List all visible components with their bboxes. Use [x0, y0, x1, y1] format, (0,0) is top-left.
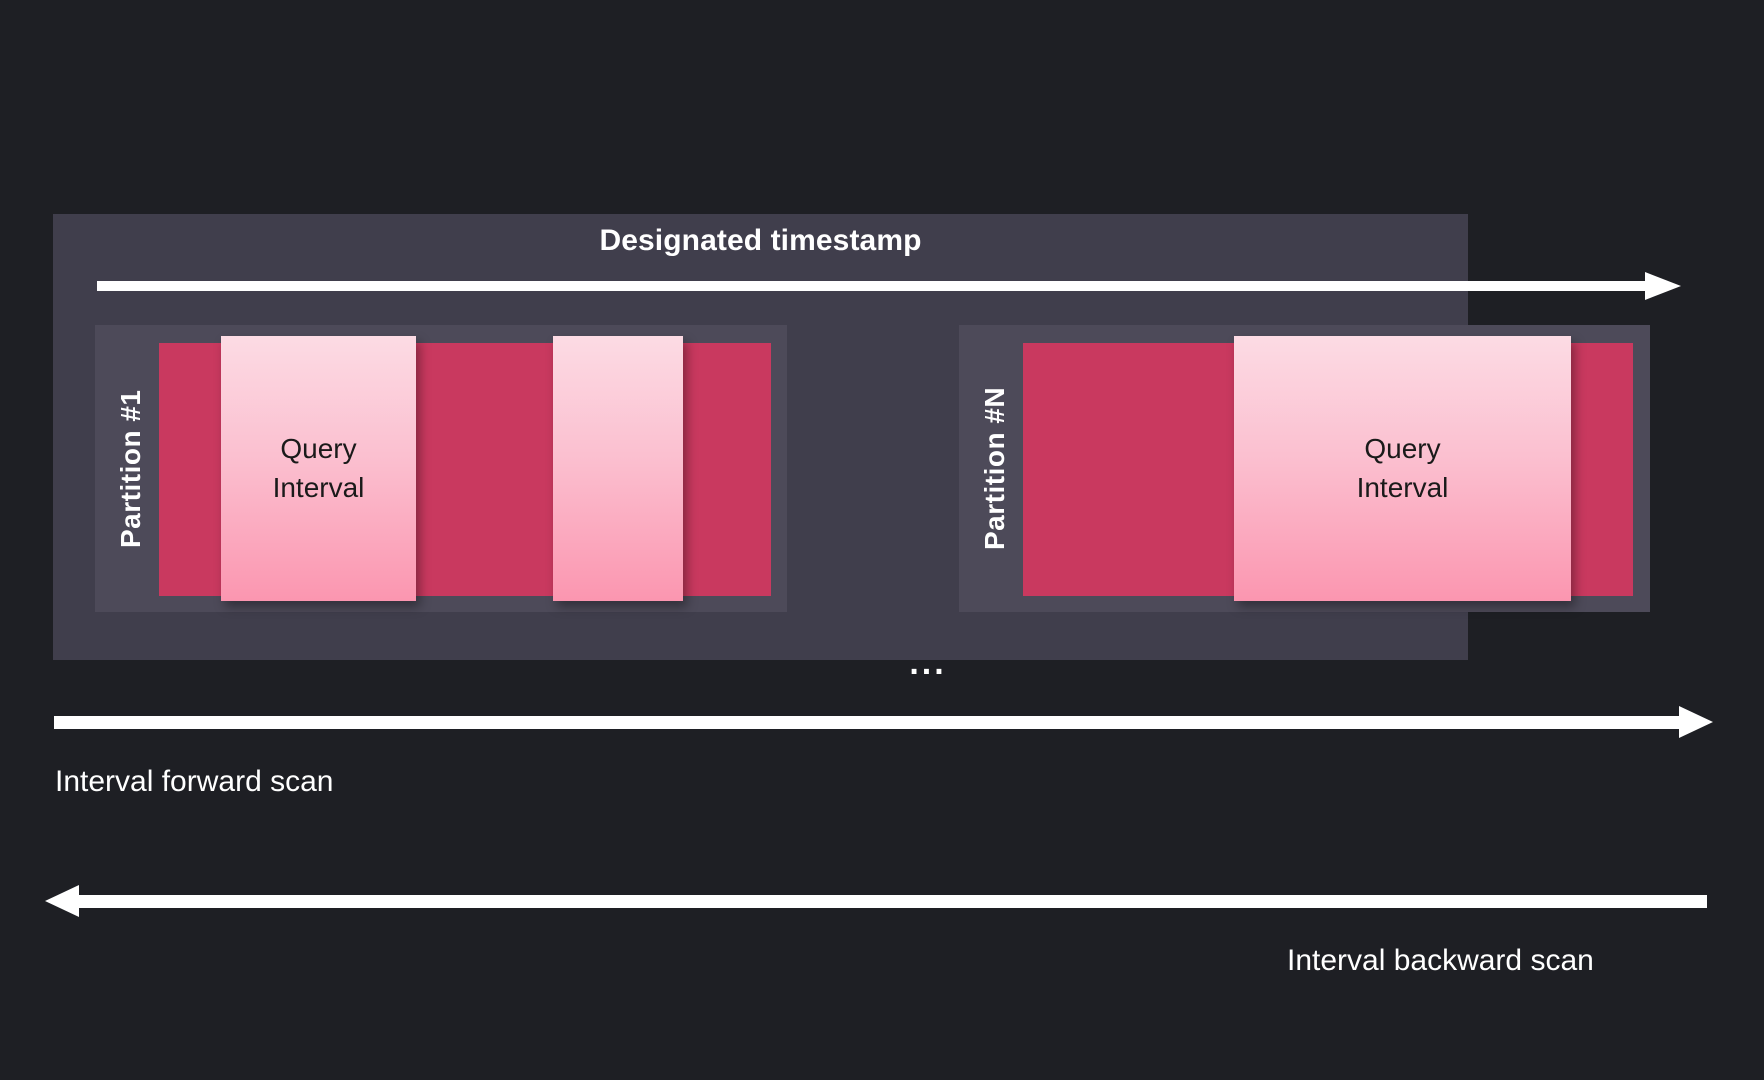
query-interval-line-1: Query: [280, 430, 356, 469]
partitions-ellipsis: ...: [893, 644, 963, 683]
forward-arrow-head: [1679, 706, 1713, 738]
panel-title: Designated timestamp: [53, 224, 1468, 258]
query-interval-line-1: Query: [1364, 430, 1440, 469]
query-interval-line-2: Interval: [1357, 469, 1449, 508]
interval-backward-scan-label: Interval backward scan: [1287, 944, 1594, 978]
designated-timestamp-arrow-icon: [97, 272, 1681, 300]
query-interval-block: Query Interval: [221, 336, 416, 601]
timestamp-arrow-head: [1645, 272, 1681, 300]
interval-backward-scan-arrow-left-icon: [45, 885, 1707, 917]
designated-timestamp-panel: Designated timestamp Partition #1 Query …: [53, 214, 1468, 660]
backward-arrow-head: [45, 885, 79, 917]
partition-n-label: Partition #N: [967, 325, 1023, 612]
interval-forward-scan-arrow-right-icon: [54, 706, 1713, 738]
timestamp-arrow-shaft: [97, 281, 1647, 291]
query-interval-block: Query Interval: [1234, 336, 1571, 601]
partition-1-label: Partition #1: [103, 325, 159, 612]
forward-arrow-shaft: [54, 716, 1684, 729]
partition-n: Partition #N Query Interval: [959, 325, 1650, 612]
query-interval-block: [553, 336, 683, 601]
backward-arrow-shaft: [75, 895, 1707, 908]
interval-forward-scan-label: Interval forward scan: [55, 765, 333, 799]
partition-1: Partition #1 Query Interval: [95, 325, 787, 612]
query-interval-line-2: Interval: [273, 469, 365, 508]
